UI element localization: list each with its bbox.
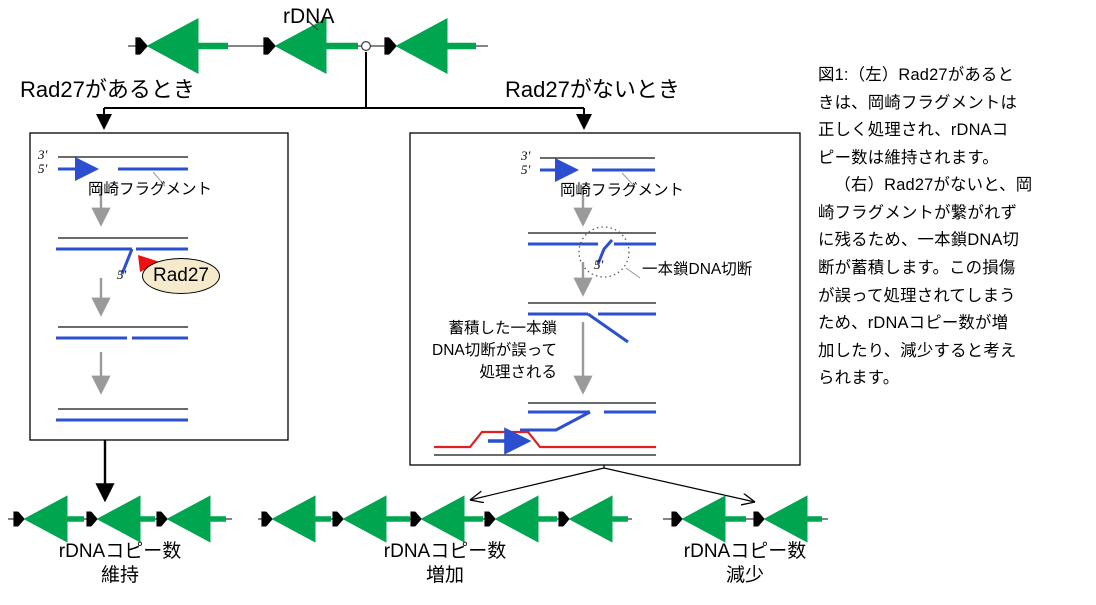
- figure-caption: 図1:（左）Rad27があると きは、岡崎フラグメントは 正しく処理され、rDN…: [818, 62, 1086, 393]
- branch-label-right: Rad27がないとき: [505, 79, 680, 101]
- caption-line: られます。: [818, 365, 1086, 393]
- rdna-repeat-unit: [14, 512, 84, 526]
- result-caption-decreased: rDNAコピー数 減少: [645, 540, 845, 588]
- left-label-3prime: 3': [38, 148, 47, 161]
- right-panel-contents: [434, 158, 656, 455]
- left-stage-3-dna: [56, 327, 188, 338]
- caption-line: 崎フラグメントが繋がれず: [818, 200, 1086, 228]
- rdna-repeat-unit: [754, 512, 822, 526]
- result-array-decreased: [663, 512, 828, 526]
- caption-line: 加したり、減少すると考え: [818, 338, 1086, 366]
- right-label-3prime: 3': [521, 149, 530, 162]
- rdna-repeat-unit: [87, 512, 155, 526]
- left-stage-4-dna: [56, 409, 188, 420]
- left-label-5prime: 5': [38, 162, 47, 175]
- right-label-5prime: 5': [521, 163, 530, 176]
- rad27-enzyme-shape: Rad27: [142, 258, 220, 294]
- caption-line: ため、rDNAコピー数が増: [818, 310, 1086, 338]
- caption-line: 正しく処理され、rDNAコ: [818, 117, 1086, 145]
- right-nick-5prime: 5': [594, 258, 603, 271]
- result-array-increased: [258, 512, 632, 526]
- caption-line: 断が蓄積します。この損傷: [818, 255, 1086, 283]
- right-stage-2-dna-nick: [528, 227, 656, 278]
- misprocessing-label: 蓄積した一本鎖 DNA切断が誤って 処理される: [417, 318, 557, 384]
- right-result-branch: [470, 465, 755, 502]
- rdna-repeat-unit: [559, 512, 628, 526]
- branch-label-left: Rad27があるとき: [20, 79, 195, 101]
- ssdna-break-label: 一本鎖DNA切断: [642, 262, 752, 278]
- result-array-maintained: [8, 512, 232, 526]
- rdna-top-label: rDNA: [283, 6, 334, 27]
- rdna-repeat-unit: [157, 512, 226, 526]
- origin-circle: [362, 42, 371, 51]
- caption-line: ピー数は維持されます。: [818, 145, 1086, 173]
- left-okazaki-label: 岡崎フラグメント: [88, 182, 212, 198]
- right-stage-4-recombination: [434, 403, 656, 455]
- caption-line: 図1:（左）Rad27があると: [818, 62, 1086, 90]
- right-okazaki-label: 岡崎フラグメント: [560, 183, 684, 199]
- red-invading-strand: [434, 432, 656, 447]
- left-flap-5prime: 5': [117, 268, 126, 281]
- rad27-enzyme-label: Rad27: [153, 265, 209, 287]
- figure-rdna-rad27: rDNA Rad27があるとき Rad27がないとき 3' 5' 岡崎フラグメン…: [0, 0, 1096, 605]
- caption-line: が誤って処理されてしまう: [818, 283, 1086, 311]
- result-caption-increased: rDNAコピー数 増加: [345, 540, 545, 588]
- caption-line: に残るため、一本鎖DNA切: [818, 227, 1086, 255]
- result-caption-maintained: rDNAコピー数 維持: [20, 540, 220, 588]
- caption-line: きは、岡崎フラグメントは: [818, 90, 1086, 118]
- caption-line: （右）Rad27がないと、岡: [818, 172, 1086, 200]
- rdna-repeat-unit: [262, 512, 331, 526]
